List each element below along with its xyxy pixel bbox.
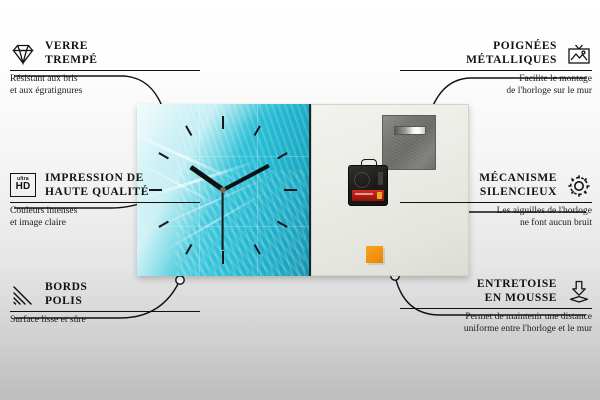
feature-description: Couleurs intenses et image claire xyxy=(10,206,200,229)
mechanism-dial xyxy=(354,172,370,188)
picture-frame-hook-icon xyxy=(566,41,592,67)
mechanism-shaft xyxy=(378,172,383,185)
gear-icon xyxy=(566,173,592,199)
feature-foam-spacer: ENTRETOISE EN MOUSSE Permet de maintenir… xyxy=(400,278,592,335)
feature-divider xyxy=(10,70,200,71)
ultra-hd-icon: ultra HD xyxy=(10,173,36,199)
clock-center-cap xyxy=(220,187,226,193)
infographic-canvas: VERRE TREMPÉ Résistant aux bris et aux é… xyxy=(0,0,600,400)
foam-spacer xyxy=(366,246,383,263)
hanger-keyhole-slot xyxy=(394,126,426,135)
feature-divider xyxy=(400,308,592,309)
feature-title: VERRE TREMPÉ xyxy=(45,40,98,67)
feature-divider xyxy=(10,202,200,203)
feature-divider xyxy=(10,311,200,312)
polished-edge-icon xyxy=(10,282,36,308)
feature-title: IMPRESSION DE HAUTE QUALITÉ xyxy=(45,172,149,199)
feature-divider xyxy=(400,70,592,71)
feature-polished-edges: BORDS POLIS Surface lisse et sûre xyxy=(10,281,200,327)
feature-title: POIGNÉES MÉTALLIQUES xyxy=(466,40,557,67)
diamond-icon xyxy=(10,41,36,67)
feature-divider xyxy=(400,202,592,203)
feature-metal-hangers: POIGNÉES MÉTALLIQUES Facilite le montage… xyxy=(400,40,592,97)
mechanism-hanger-loop xyxy=(361,159,377,169)
feature-description: Résistant aux bris et aux égratignures xyxy=(10,74,200,97)
feature-title: BORDS POLIS xyxy=(45,281,87,308)
feature-description: Facilite le montage de l'horloge sur le … xyxy=(400,74,592,97)
press-down-arrow-icon xyxy=(566,279,592,305)
feature-description: Les aiguilles de l'horloge ne font aucun… xyxy=(400,206,592,229)
feature-description: Surface lisse et sûre xyxy=(10,315,200,327)
feature-description: Permet de maintenir une distance uniform… xyxy=(400,312,592,335)
feature-title: ENTRETOISE EN MOUSSE xyxy=(477,278,557,305)
feature-tempered-glass: VERRE TREMPÉ Résistant aux bris et aux é… xyxy=(10,40,200,97)
clock-second-hand xyxy=(222,190,224,250)
feature-hd-print: ultra HD IMPRESSION DE HAUTE QUALITÉ Cou… xyxy=(10,172,200,229)
feature-title: MÉCANISME SILENCIEUX xyxy=(479,172,557,199)
ultra-hd-big-text: HD xyxy=(16,182,31,192)
clock-mechanism xyxy=(348,165,388,206)
battery xyxy=(352,190,384,201)
metal-hanger-plate xyxy=(382,115,436,170)
feature-silent-movement: MÉCANISME SILENCIEUX Les aiguilles de l'… xyxy=(400,172,592,229)
